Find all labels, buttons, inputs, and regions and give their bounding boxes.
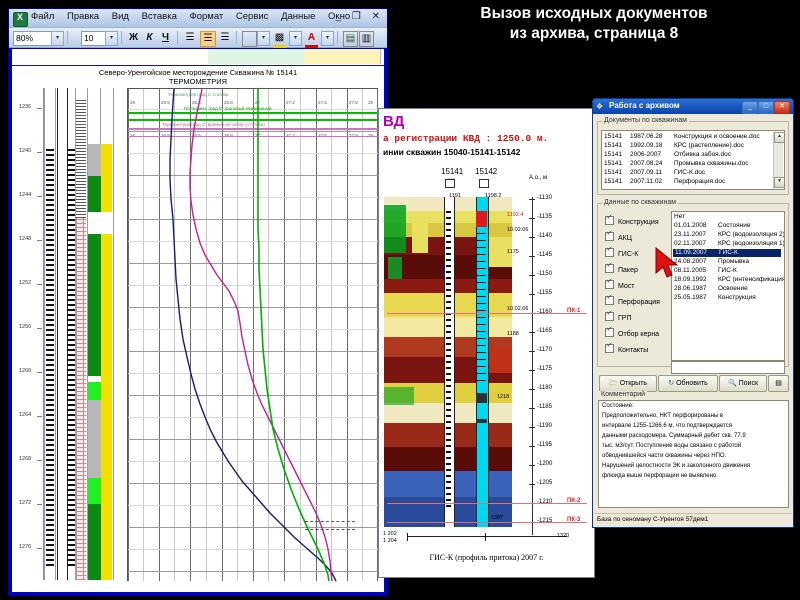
menu-item-view[interactable]: Вид [112,11,129,22]
print-button[interactable]: ▤ [768,375,789,392]
sheet-cell[interactable] [90,49,151,64]
depth-label: 1240 [19,148,31,154]
sheet-cell[interactable] [276,49,305,64]
data-combo[interactable] [671,361,785,374]
checkbox-icon[interactable] [605,264,614,273]
menu-item-tools[interactable]: Сервис [236,11,269,22]
depth-axis-right: -1130 -1135 -1140 -1145 -1150 -1155 -116… [527,189,589,539]
saturation-block [101,144,112,212]
depth-label: 1264 [19,412,31,418]
checkbox-icon[interactable] [605,248,614,257]
checkbox-paker[interactable]: Пакер [605,263,638,274]
menu-item-file[interactable]: Файл [31,11,54,22]
well-marker-15141 [445,179,455,188]
comment-line: тыс. м3/сут. Поступление воды связано с … [602,443,741,449]
perforation-column [67,146,75,566]
axis-caption: А.о., м [529,175,547,181]
open-button[interactable]: 🗁 Открыть [599,375,657,392]
checkbox-icon[interactable] [605,328,614,337]
list-item-none[interactable]: Нет [674,213,685,220]
profile-label-1204: 1 204 [383,538,397,544]
well-marker-15142 [479,179,489,188]
sample-mark [305,529,355,531]
documents-listbox[interactable]: 151411987.06.28Конструкция и освоение.do… [601,130,785,190]
comment-memo[interactable]: Состояние: Предположительно, НКТ перфори… [598,400,789,508]
annotation-1387: 1387 [491,515,503,521]
dialog-statusbar: База по сеноману С-Уренгоя 57дем1 [594,513,792,526]
seismic-panel: ВД а регистрации КВД : 1250.0 м. инии ск… [378,108,595,578]
slide-title-line1: Вызов исходных документов [392,4,796,24]
menu-item-data[interactable]: Данные [281,11,315,22]
depth-tick: -1210 [537,499,552,505]
data-listbox[interactable]: Нет 01.01.2008Состояние 23.11.2007КРС (в… [671,211,785,361]
depth-label: 1256 [19,324,31,330]
depth-tick: -1155 [537,290,552,296]
underline-button[interactable]: Ч [159,31,172,45]
print-icon: ▤ [775,380,782,387]
saturation-block [101,234,112,580]
red-arrow-cursor [655,247,681,286]
documents-group-label: Документы по скважинам [602,117,689,124]
scroll-down-icon[interactable]: ▼ [774,177,785,188]
depth-label: 1272 [19,500,31,506]
depth-label: 1244 [19,192,31,198]
annotation-side: 1283 [439,265,445,276]
depth-tick: -1205 [537,480,552,486]
slide-root: Вызов исходных документов из архива, стр… [0,0,800,600]
log-chart-title: Северо-Уренгойское месторождение Скважин… [15,68,381,77]
excel-window: Файл Правка Вид Вставка Формат Сервис Да… [8,8,388,596]
excel-logo-icon [13,12,28,27]
list-item[interactable]: 01.01.2008Состояние [674,222,750,229]
depth-axis: 1236 1240 1244 1248 1252 1256 1260 1264 … [17,88,44,580]
curve-green [258,89,329,581]
annotation-1191: 1191 [449,193,461,199]
borders-dropdown-icon[interactable]: ▾ [257,31,270,46]
depth-tick: -1160 [537,309,552,315]
checkbox-kontakty[interactable]: Контакты [605,343,648,354]
checkbox-grp[interactable]: ГРП [605,311,632,322]
depth-tick: -1195 [537,442,552,448]
perforation-column [46,146,54,566]
marker-pk-1: ПК-1 [567,308,580,314]
annotation-1198: 1198.2 [485,193,501,199]
align-right-icon[interactable]: ☰ [218,31,232,45]
font-size-dropdown-icon[interactable]: ▾ [105,31,118,46]
list-item[interactable]: 151412006-2007Отбивка забоя.doc [604,151,731,158]
list-item[interactable]: 151412007.11.02Перфорация.doc [604,178,725,185]
menu-item-insert[interactable]: Вставка [142,11,177,22]
comment-line: данными расходомера. Суммарный дебит скв… [602,433,746,439]
depth-tick: -1150 [537,271,552,277]
depth-tick: -1140 [537,233,552,239]
menu-item-format[interactable]: Формат [190,11,224,22]
insert-object-icon[interactable]: ▤ [343,31,358,47]
comment-group-label: Комментарий [599,391,647,398]
depth-tick: -1130 [537,195,552,201]
zoom-combo[interactable]: 80% [13,31,55,46]
profile-label-1320: 1320 [557,533,569,539]
annotation-1175: 1175 [507,249,519,255]
annotation-date-1: 10.02.06 [507,227,528,233]
checkbox-most[interactable]: Мост [605,279,635,290]
checkbox-icon[interactable] [605,312,614,321]
minimize-button[interactable]: _ [742,101,758,114]
depth-tick: -1170 [537,347,552,353]
depth-tick: -1190 [537,423,552,429]
list-item[interactable]: 28.06.1987Освоение [674,285,748,292]
sheet-cell[interactable] [12,49,91,64]
excel-window-buttons[interactable]: _ ❐ ✕ [336,11,384,22]
comment-icon[interactable]: ▥ [359,31,374,47]
close-button[interactable]: ✕ [774,101,790,114]
sheet-cell[interactable] [244,49,277,64]
lithology-brick [76,218,86,580]
checkbox-icon[interactable] [605,296,614,305]
checkbox-konstrukciya[interactable]: Конструкция [605,215,659,226]
excel-menu[interactable]: Файл Правка Вид Вставка Формат Сервис Да… [31,11,360,22]
depth-tick: -1135 [537,214,552,220]
list-item[interactable]: 23.11.2007КРС (водоизоляция 2) [674,231,785,238]
lithology-lines [76,98,86,218]
log-chart-subtitle: ТЕРМОМЕТРИЯ [15,77,381,86]
excel-sheet: Северо-Уренгойское месторождение Скважин… [12,49,384,592]
sheet-cell[interactable] [304,49,343,64]
list-item-selected[interactable]: 11.09.2007ГИС-К [673,249,781,257]
inflow-profile: 1 202 1 204 1320 [397,533,575,549]
marker-pk-2: ПК-2 [567,498,580,504]
zoom-dropdown-icon[interactable]: ▾ [51,31,64,46]
sheet-cell[interactable] [208,49,245,64]
binoculars-icon: 🔍 [728,380,737,387]
list-item[interactable]: 151412007.09.11ГИС-К.doc [604,169,705,176]
fill-color-dropdown-icon[interactable]: ▾ [289,31,302,46]
comment-line: интервале 1255-1266.6 м, что подтверждае… [602,423,732,429]
curve-magenta [190,89,332,581]
depth-label: 1236 [19,104,31,110]
align-center-icon[interactable]: ☰ [200,31,216,47]
slide-title-line2: из архива, страница 8 [392,24,796,44]
comment-line: флюида выше перфорации не выявлено. [602,473,718,479]
well-label-15142: 15142 [475,167,497,176]
list-item[interactable]: 151412007.08.24Промывка скважины.doc [604,160,749,167]
saturation-block [101,212,112,234]
refresh-icon: ↻ [668,380,674,387]
track-7 [113,88,128,580]
data-group-label: Данные по скважинам [602,199,678,206]
font-color-icon[interactable]: A [305,31,318,48]
bold-button[interactable]: Ж [127,31,140,45]
excel-toolbar: 80% ▾ 10 ▾ Ж К Ч ☰ ☰ ☰ ▾ ▩ ▾ A ▾ ▤ ▥ [9,28,387,48]
annotation-1188: 1188 [507,331,519,337]
checkbox-icon[interactable] [605,216,614,225]
depth-tick: -1180 [537,385,552,391]
depth-label: 1276 [19,544,31,550]
log-footer-table: 15141 02.11.07 Иск. забой 6 2 1273 15141… [15,586,381,592]
seismic-section [384,197,512,527]
seismic-title: ВД [383,113,404,130]
comment-line: Состояние: [602,403,634,409]
curves-svg [128,89,378,581]
checkbox-icon[interactable] [605,344,614,353]
annotation-1192: 1192.4 [507,212,523,218]
refresh-button[interactable]: ↻ Обновить [658,375,718,392]
checkbox-icon[interactable] [605,232,614,241]
depth-tick: -1200 [537,461,552,467]
depth-tick: -1175 [537,366,552,372]
documents-scrollbar[interactable]: ▲ ▼ [773,132,783,188]
profile-label-1202: 1 202 [383,531,397,537]
checkbox-akc[interactable]: АКЦ [605,231,632,242]
slide-title: Вызов исходных документов из архива, стр… [392,4,796,44]
align-left-icon[interactable]: ☰ [183,31,197,45]
depth-tick: -1165 [537,328,552,334]
sheet-cell[interactable] [150,49,209,64]
italic-button[interactable]: К [143,31,156,45]
dialog-titlebar[interactable]: ❖ Работа с архивом _ □ ✕ [593,99,793,114]
well-label-15141: 15141 [441,167,463,176]
depth-tick: -1145 [537,252,552,258]
list-item[interactable]: 18.09.1992КРС (интенсификация) [674,276,785,283]
comment-line: Нарушений целостности ЭК и заколонного д… [602,463,750,469]
depth-label: 1260 [19,368,31,374]
dialog-title: Работа с архивом [609,101,680,110]
depth-label: 1248 [19,236,31,242]
search-button[interactable]: 🔍 Поиск [719,375,767,392]
annotation-1218: 1218 [497,394,509,400]
fill-color-icon[interactable]: ▩ [273,31,286,48]
marker-pk-3: ПК-3 [567,517,580,523]
log-chart-body: 1236 1240 1244 1248 1252 1256 1260 1264 … [17,88,377,580]
depth-label: 1268 [19,456,31,462]
annotation-date-2: 10.02.06 [507,306,528,312]
scroll-up-icon[interactable]: ▲ [774,132,785,143]
list-item[interactable]: 02.11.2007КРС (водоизоляция 1) [674,240,785,247]
excel-menubar: Файл Правка Вид Вставка Формат Сервис Да… [9,9,387,28]
depth-label: 1252 [19,280,31,286]
list-item[interactable]: 25.05.1987Конструкция [674,294,756,301]
list-item[interactable]: 24.08.2007Промывка [674,258,749,265]
depth-tick: -1215 [537,518,552,524]
sheet-header-row [12,49,384,66]
seismic-profile-line: инии скважин 15040-15141-15142 [383,147,520,157]
comment-line: Предположительно, НКТ перфорированы в [602,413,723,419]
well-log-chart: Северо-Уренгойское месторождение Скважин… [15,66,381,584]
archive-dialog: ❖ Работа с архивом _ □ ✕ Документы по ск… [592,98,794,528]
sample-mark [305,521,355,523]
list-item[interactable]: 151411992.09.18КРС (растепление).doc [604,142,744,149]
curve-grid: 26 26.5 26.5 26.8 27 27.2 27.5 27.8 28 2… [127,88,378,581]
maximize-button[interactable]: □ [758,101,774,114]
checkbox-perforaciya[interactable]: Перфорация [605,295,660,306]
font-color-dropdown-icon[interactable]: ▾ [321,31,334,46]
menu-item-edit[interactable]: Правка [67,11,99,22]
seismic-registration: а регистрации КВД : 1250.0 м. [383,133,548,144]
list-item[interactable]: 151411987.06.28Конструкция и освоение.do… [604,133,760,140]
checkbox-icon[interactable] [605,280,614,289]
curve-navy [170,89,336,581]
sheet-cell[interactable] [342,49,381,64]
seismic-caption: ГИС-К (профиль притока) 2007 г. [379,553,594,562]
depth-tick: -1185 [537,404,552,410]
list-item[interactable]: 08.11.2005ГИС-К [674,267,737,274]
archive-icon: ❖ [596,102,603,111]
comment-line: обводнившейся части скважины через НПО. [602,453,726,459]
checkbox-otbor-kerna[interactable]: Отбор керна [605,327,659,338]
checkbox-gis-k[interactable]: ГИС-К [605,247,638,258]
open-folder-icon: 🗁 [609,380,618,387]
borders-icon[interactable] [242,31,257,47]
